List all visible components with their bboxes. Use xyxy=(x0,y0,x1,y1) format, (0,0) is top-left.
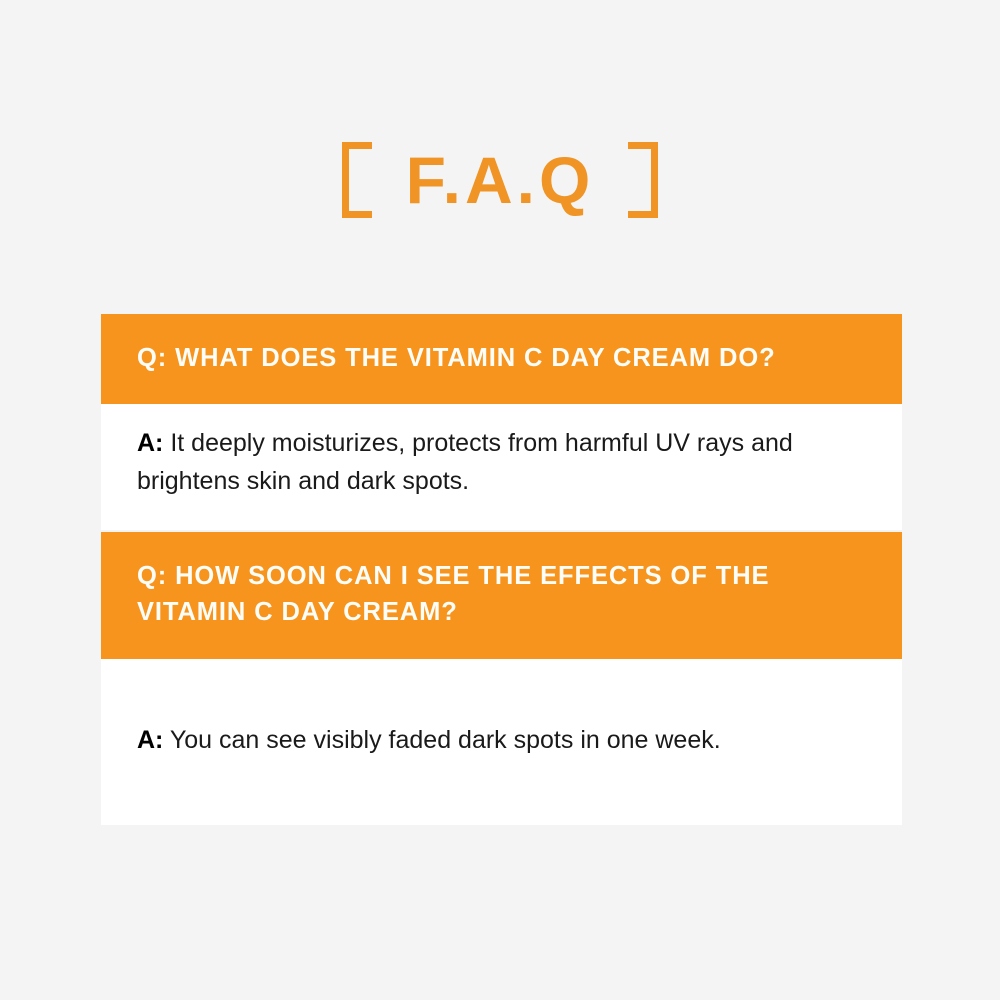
faq-answer-panel-1: A: It deeply moisturizes, protects from … xyxy=(101,404,902,530)
faq-question-text-2: Q: HOW SOON CAN I SEE THE EFFECTS OF THE… xyxy=(137,558,866,630)
faq-item-2: Q: HOW SOON CAN I SEE THE EFFECTS OF THE… xyxy=(101,532,902,824)
faq-answer-label-2: A: xyxy=(137,726,163,754)
left-bracket-icon xyxy=(342,142,372,218)
faq-answer-text-1: A: It deeply moisturizes, protects from … xyxy=(137,424,866,500)
faq-answer-text-2: A: You can see visibly faded dark spots … xyxy=(137,721,866,759)
faq-answer-label-1: A: xyxy=(137,429,163,457)
faq-question-bar-1[interactable]: Q: WHAT DOES THE VITAMIN C DAY CREAM DO? xyxy=(101,314,902,404)
faq-answer-body-2: You can see visibly faded dark spots in … xyxy=(163,726,720,754)
faq-title-block: F.A.Q xyxy=(0,130,1000,230)
faq-card: Q: WHAT DOES THE VITAMIN C DAY CREAM DO?… xyxy=(101,314,902,825)
faq-question-text-1: Q: WHAT DOES THE VITAMIN C DAY CREAM DO? xyxy=(137,340,866,376)
right-bracket-icon xyxy=(628,142,658,218)
page-title: F.A.Q xyxy=(406,147,595,213)
faq-item-1: Q: WHAT DOES THE VITAMIN C DAY CREAM DO?… xyxy=(101,314,902,530)
faq-answer-body-1: It deeply moisturizes, protects from har… xyxy=(137,429,793,495)
faq-question-bar-2[interactable]: Q: HOW SOON CAN I SEE THE EFFECTS OF THE… xyxy=(101,532,902,658)
faq-answer-panel-2: A: You can see visibly faded dark spots … xyxy=(101,659,902,825)
